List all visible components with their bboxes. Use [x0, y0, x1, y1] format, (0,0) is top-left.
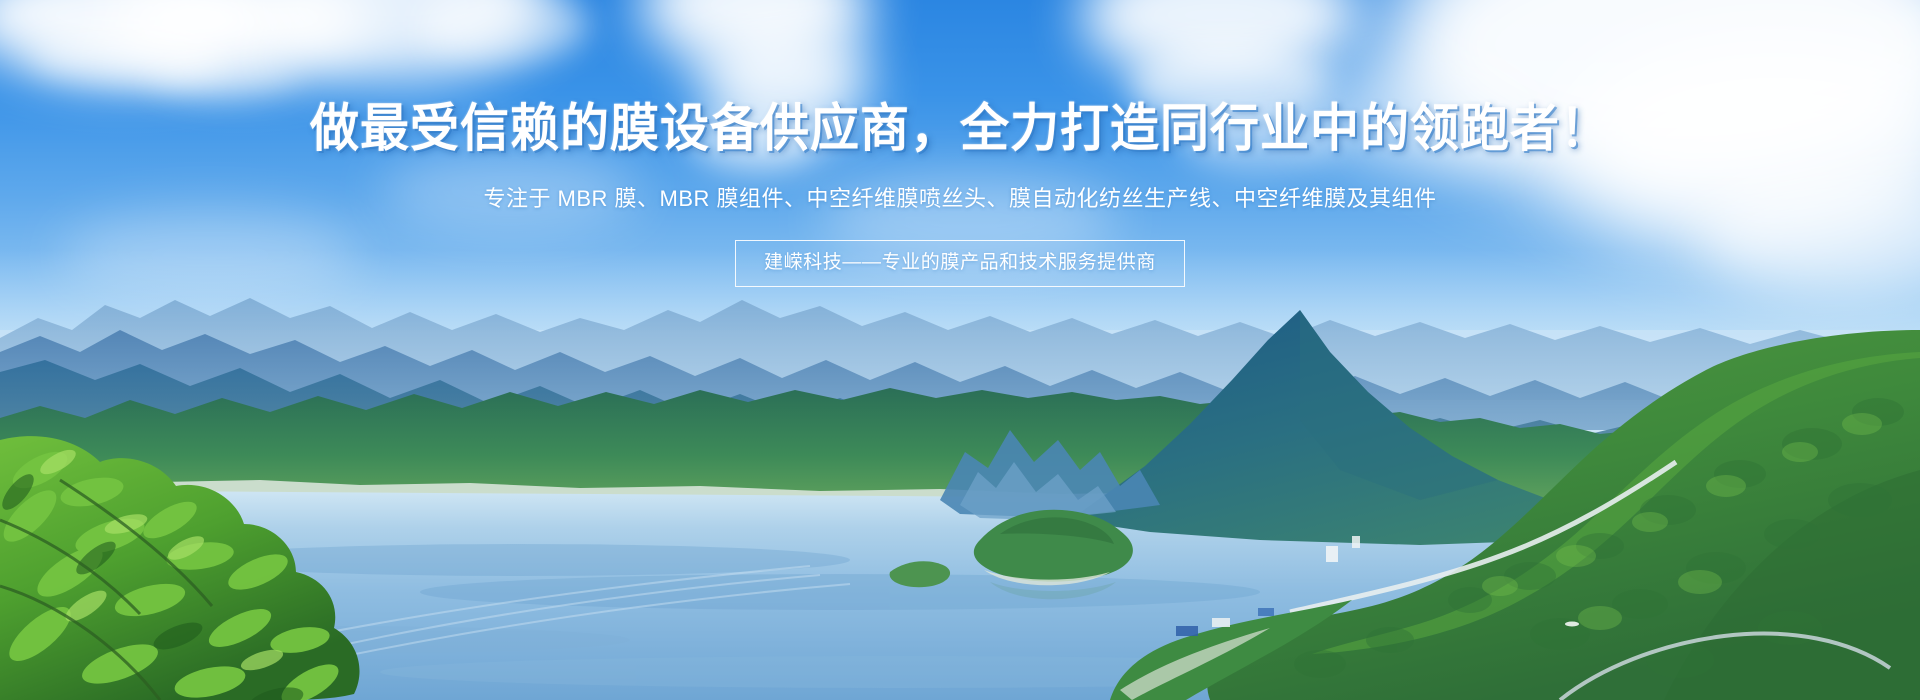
banner-tagline-wrapper: 建嵘科技——专业的膜产品和技术服务提供商 — [0, 240, 1920, 287]
banner-tagline-box: 建嵘科技——专业的膜产品和技术服务提供商 — [735, 240, 1185, 287]
hero-banner: 做最受信赖的膜设备供应商，全力打造同行业中的领跑者！ 专注于 MBR 膜、MBR… — [0, 0, 1920, 700]
banner-subline: 专注于 MBR 膜、MBR 膜组件、中空纤维膜喷丝头、膜自动化纺丝生产线、中空纤… — [0, 182, 1920, 216]
banner-headline: 做最受信赖的膜设备供应商，全力打造同行业中的领跑者！ — [0, 96, 1920, 162]
